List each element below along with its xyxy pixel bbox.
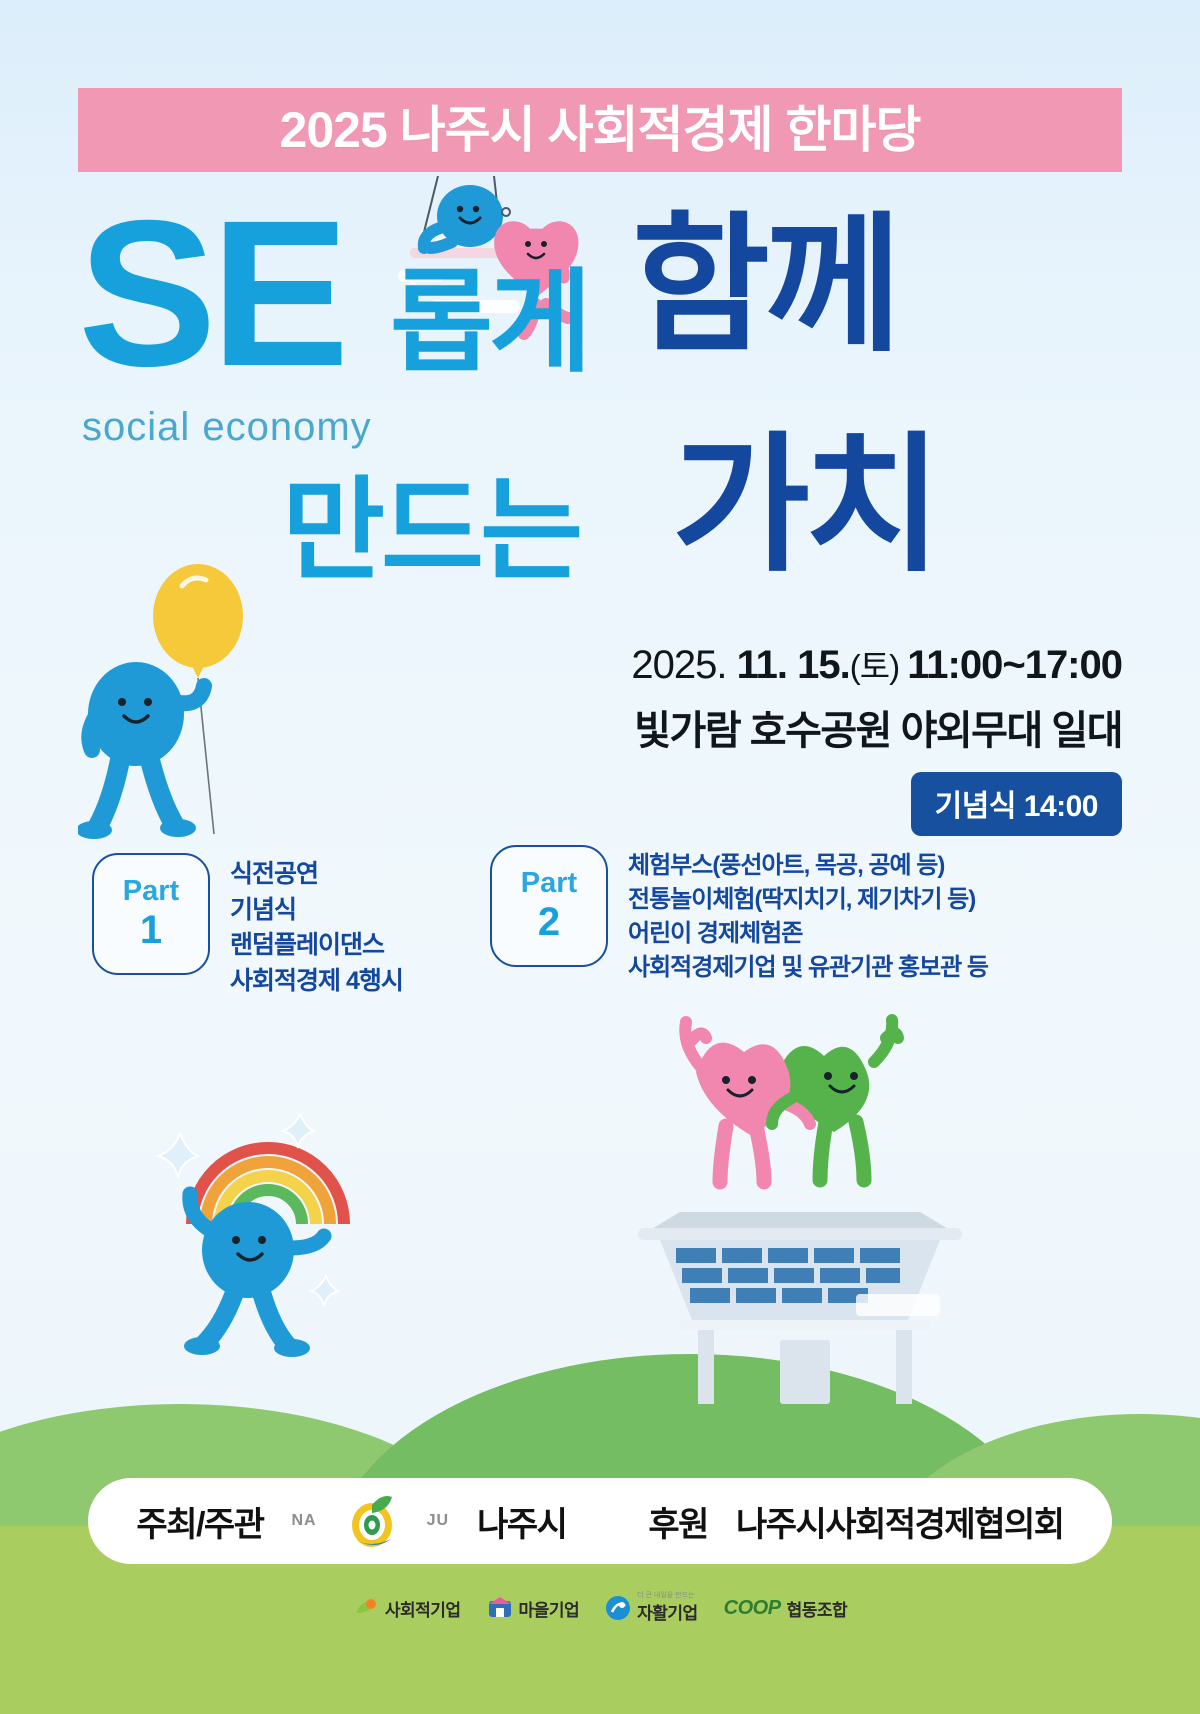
event-date-year: 2025.	[631, 643, 736, 687]
part-1-badge: Part 1	[92, 853, 210, 975]
list-item: 어린이 경제체험존	[628, 917, 988, 951]
partner-name: 자활기업	[637, 1604, 698, 1623]
balloon-blue-character	[78, 556, 298, 856]
part-group-1: Part 1 식전공연 기념식 랜덤플레이댄스 사회적경제 4행시	[92, 853, 403, 999]
event-date-md: 11. 15.	[737, 643, 850, 687]
part-2-badge: Part 2	[490, 845, 608, 967]
partner-name: 사회적기업	[385, 1596, 461, 1621]
social-enterprise-icon	[353, 1595, 379, 1621]
host-name: 나주시	[477, 1497, 566, 1546]
part-1-label: Part	[123, 877, 179, 906]
partner-logos: 사회적기업 마을기업 더 큰 내일을 만드는 자활기업 COOP 협동조합	[0, 1592, 1200, 1624]
headline-value: 가치	[672, 430, 936, 580]
poster-title: 2025 나주시 사회적경제 한마당	[280, 105, 921, 155]
list-item: 식전공연	[230, 857, 403, 893]
partner-village-enterprise: 마을기업	[487, 1595, 580, 1621]
host-label: 주최/주관	[136, 1497, 263, 1546]
partner-name: 마을기업	[519, 1596, 580, 1621]
footer-credits-bar: 주최/주관 NA JU 나주시 후원 나주시사회적경제협의회	[88, 1478, 1112, 1564]
naju-city-logo-icon	[345, 1491, 399, 1551]
event-place: 빛가람 호수공원 야외무대 일대	[382, 698, 1122, 756]
list-item: 기념식	[230, 893, 403, 929]
sponsor-label: 후원	[648, 1497, 708, 1546]
partner-name: 협동조합	[787, 1596, 848, 1621]
headline-rope: 롭게	[390, 267, 588, 379]
rainbow-blue-character	[150, 1108, 390, 1358]
event-date-line: 2025. 11. 15.(토) 11:00~17:00	[382, 640, 1122, 688]
headline-together: 함께	[632, 210, 896, 360]
sponsor-name: 나주시사회적경제협의회	[736, 1497, 1064, 1546]
part-1-number: 1	[140, 909, 162, 951]
part-group-2: Part 2 체험부스(풍선아트, 목공, 공예 등) 전통놀이체험(딱지치기,…	[490, 845, 988, 985]
part-2-label: Part	[521, 869, 577, 898]
list-item: 랜덤플레이댄스	[230, 928, 403, 964]
title-ribbon: 2025 나주시 사회적경제 한마당	[78, 88, 1122, 172]
list-item: 사회적경제 4행시	[230, 964, 403, 1000]
program-parts: Part 1 식전공연 기념식 랜덤플레이댄스 사회적경제 4행시 Part 2…	[0, 845, 1200, 1005]
poster-canvas: 2025 나주시 사회적경제 한마당 SE social economy 롭게 …	[0, 0, 1200, 1714]
list-item: 체험부스(풍선아트, 목공, 공예 등)	[628, 849, 988, 883]
ceremony-time-badge: 기념식 14:00	[911, 772, 1122, 836]
headline-se-subtitle: social economy	[82, 405, 372, 450]
headline-se: SE	[78, 205, 343, 384]
partner-cooperative: COOP 협동조합	[724, 1596, 847, 1621]
partner-self-sufficiency: 더 큰 내일을 만드는 자활기업	[605, 1592, 698, 1624]
part-1-list: 식전공연 기념식 랜덤플레이댄스 사회적경제 4행시	[230, 853, 403, 999]
naju-mark-suffix: JU	[427, 1512, 449, 1530]
lake-park-building	[620, 1190, 980, 1410]
village-enterprise-icon	[487, 1595, 513, 1621]
part-2-list: 체험부스(풍선아트, 목공, 공예 등) 전통놀이체험(딱지치기, 제기차기 등…	[628, 845, 988, 985]
partner-tagline: 더 큰 내일을 만드는	[637, 1592, 698, 1599]
event-date-time: 11:00~17:00	[907, 643, 1122, 687]
part-2-number: 2	[538, 901, 560, 943]
event-date-day: (토)	[850, 648, 908, 685]
list-item: 전통놀이체험(딱지치기, 제기차기 등)	[628, 883, 988, 917]
naju-mark-prefix: NA	[292, 1512, 317, 1530]
event-info: 2025. 11. 15.(토) 11:00~17:00 빛가람 호수공원 야외…	[382, 640, 1122, 836]
self-sufficiency-icon	[605, 1595, 631, 1621]
coop-wordmark: COOP	[724, 1597, 781, 1620]
list-item: 사회적경제기업 및 유관기관 홍보관 등	[628, 951, 988, 985]
partner-social-enterprise: 사회적기업	[353, 1595, 461, 1621]
pink-green-characters	[660, 1010, 920, 1210]
headline-make: 만드는	[282, 475, 579, 587]
